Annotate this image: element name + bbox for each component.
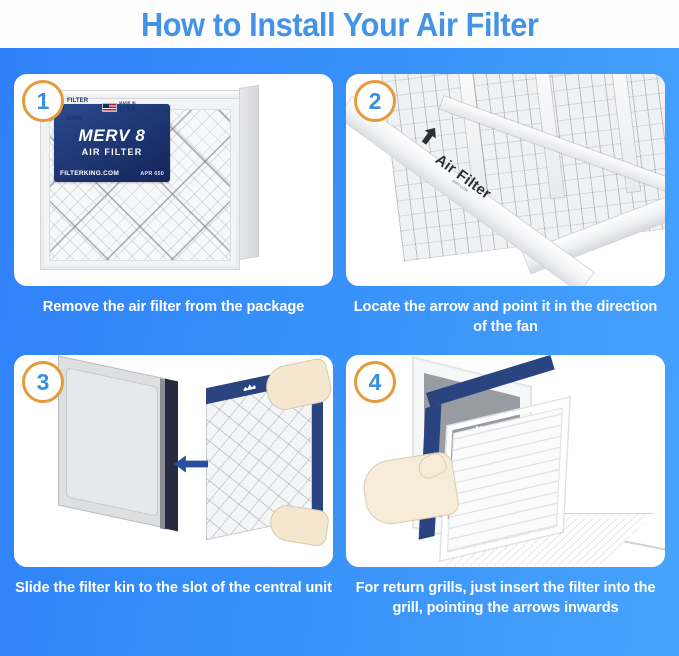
made-in-usa-text: MADE IN USA (119, 101, 137, 114)
step-2-image-card: Air Filter AIRFLOW 2 (346, 74, 665, 286)
step-card-1: FILTER KING MADE IN USA (14, 74, 333, 317)
step-3-badge: 3 (22, 361, 64, 403)
label-bottom-row: FILTERKING.COM APR 650 (60, 170, 164, 177)
step-2-caption: Locate the arrow and point it in the dir… (346, 297, 665, 337)
step-4-badge: 4 (354, 361, 396, 403)
product-type-text: AIR FILTER (54, 147, 170, 157)
brand-text-block: FILTER KING (67, 89, 88, 125)
step-1-number: 1 (37, 90, 50, 113)
apr-rating-text: APR 650 (140, 171, 164, 177)
usa-flag-icon (102, 103, 117, 112)
steps-grid: FILTER KING MADE IN USA (0, 48, 679, 656)
air-filter-product-photo: FILTER KING MADE IN USA (34, 84, 264, 276)
step-card-3: 3 Slide the filter kin to the slot of th… (14, 355, 333, 598)
made-in-usa-badge: MADE IN USA (102, 101, 137, 114)
filter-brand-row: FILTER KING MADE IN USA (56, 89, 168, 125)
hand-lower (268, 503, 331, 548)
merv-rating-text: MERV 8 (54, 127, 170, 144)
filter-side-edge (239, 85, 259, 260)
page-title: How to Install Your Air Filter (141, 8, 539, 41)
step-1-caption: Remove the air filter from the package (14, 297, 333, 317)
infographic-root: How to Install Your Air Filter (0, 0, 679, 656)
step-4-caption: For return grills, just insert the filte… (346, 578, 665, 618)
step-1-badge: 1 (22, 80, 64, 122)
step-card-2: Air Filter AIRFLOW 2 Locate the arrow an… (346, 74, 665, 337)
insert-direction-arrow-icon (174, 453, 208, 475)
website-text: FILTERKING.COM (60, 170, 119, 177)
filter-king-crown-icon (242, 378, 264, 394)
step-3-number: 3 (37, 371, 50, 394)
header-band: How to Install Your Air Filter (0, 0, 679, 48)
step-1-image-card: FILTER KING MADE IN USA (14, 74, 333, 286)
brand-line-2: KING (67, 116, 82, 122)
step-2-number: 2 (369, 90, 382, 113)
step-card-4: 4 For return grills, just insert the fil… (346, 355, 665, 618)
brand-line-1: FILTER (67, 98, 88, 104)
country-label: USA (119, 106, 137, 114)
step-3-caption: Slide the filter kin to the slot of the … (14, 578, 333, 598)
step-3-image-card: 3 (14, 355, 333, 567)
step-4-image-card: 4 (346, 355, 665, 567)
step-2-badge: 2 (354, 80, 396, 122)
step-4-number: 4 (369, 371, 382, 394)
central-unit-slot (66, 367, 158, 517)
